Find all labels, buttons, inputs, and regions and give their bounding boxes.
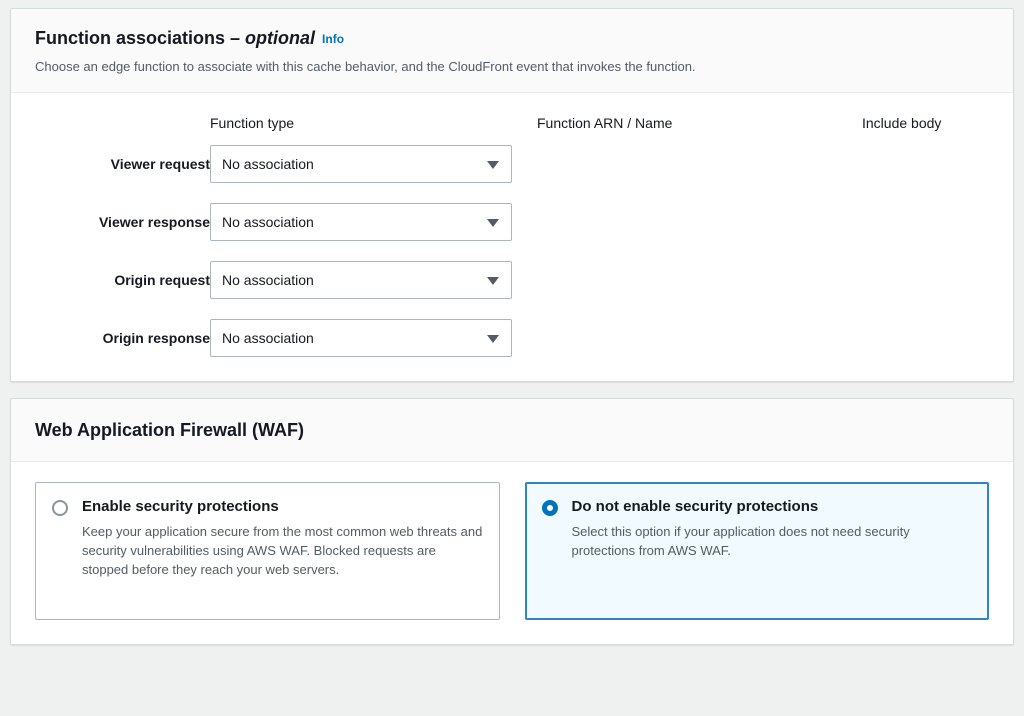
cell-include-body [862,319,989,359]
select-viewer-response-function-type[interactable]: No association [210,203,512,241]
select-value: No association [222,213,314,231]
radio-card-enable-security-protections[interactable]: Enable security protections Keep your ap… [35,482,500,620]
cell-include-body [862,261,989,319]
function-associations-panel: Function associations – optionalInfo Cho… [10,8,1014,382]
radio-card-do-not-enable-security-protections[interactable]: Do not enable security protections Selec… [525,482,990,620]
function-associations-description: Choose an edge function to associate wit… [35,58,989,76]
cell-function-arn-name [537,203,862,261]
cell-include-body [862,145,989,203]
page-title: Function associations – optionalInfo [35,27,989,51]
column-header-function-arn-name: Function ARN / Name [537,107,862,145]
cell-function-type: No association [210,319,537,359]
chevron-down-icon [487,277,499,285]
cell-function-arn-name [537,261,862,319]
table-row: Viewer request No association [35,145,989,203]
radio-selected-icon[interactable] [542,500,558,516]
row-label-viewer-response: Viewer response [35,203,210,261]
column-header-spacer [35,107,210,145]
waf-body: Enable security protections Keep your ap… [11,462,1013,644]
select-value: No association [222,155,314,173]
table-header: Function type Function ARN / Name Includ… [35,107,989,145]
cell-function-type: No association [210,203,537,261]
radio-card-text: Do not enable security protections Selec… [572,497,973,560]
panel-title-optional: optional [245,27,315,49]
waf-panel: Web Application Firewall (WAF) Enable se… [10,398,1014,645]
info-link[interactable]: Info [322,28,344,50]
cell-function-type: No association [210,261,537,319]
table-row: Origin response No association [35,319,989,359]
page-root: Function associations – optionalInfo Cho… [0,0,1024,716]
row-label-viewer-request: Viewer request [35,145,210,203]
panel-title-text: Function associations – [35,27,245,49]
column-header-include-body: Include body [862,107,989,145]
table-row: Viewer response No association [35,203,989,261]
select-viewer-request-function-type[interactable]: No association [210,145,512,183]
select-origin-response-function-type[interactable]: No association [210,319,512,357]
cell-function-arn-name [537,319,862,359]
cell-include-body [862,203,989,261]
cell-function-arn-name [537,145,862,203]
waf-header: Web Application Firewall (WAF) [11,399,1013,462]
row-label-origin-request: Origin request [35,261,210,319]
column-header-function-type: Function type [210,107,537,145]
radio-label-enable-security-protections: Enable security protections [82,497,483,517]
radio-label-do-not-enable-security-protections: Do not enable security protections [572,497,973,517]
chevron-down-icon [487,219,499,227]
radio-description-do-not-enable-security-protections: Select this option if your application d… [572,522,973,560]
select-origin-request-function-type[interactable]: No association [210,261,512,299]
waf-title: Web Application Firewall (WAF) [35,419,989,441]
cell-function-type: No association [210,145,537,203]
chevron-down-icon [487,161,499,169]
table-body: Viewer request No association Viewer res… [35,145,989,359]
function-associations-header: Function associations – optionalInfo Cho… [11,9,1013,93]
radio-unselected-icon[interactable] [52,500,68,516]
select-value: No association [222,271,314,289]
radio-description-enable-security-protections: Keep your application secure from the mo… [82,522,483,579]
table-row: Origin request No association [35,261,989,319]
row-label-origin-response: Origin response [35,319,210,359]
table-header-row: Function type Function ARN / Name Includ… [35,107,989,145]
chevron-down-icon [487,335,499,343]
radio-card-text: Enable security protections Keep your ap… [82,497,483,579]
select-value: No association [222,329,314,347]
function-associations-body: Function type Function ARN / Name Includ… [11,93,1013,381]
function-associations-table: Function type Function ARN / Name Includ… [35,107,989,359]
